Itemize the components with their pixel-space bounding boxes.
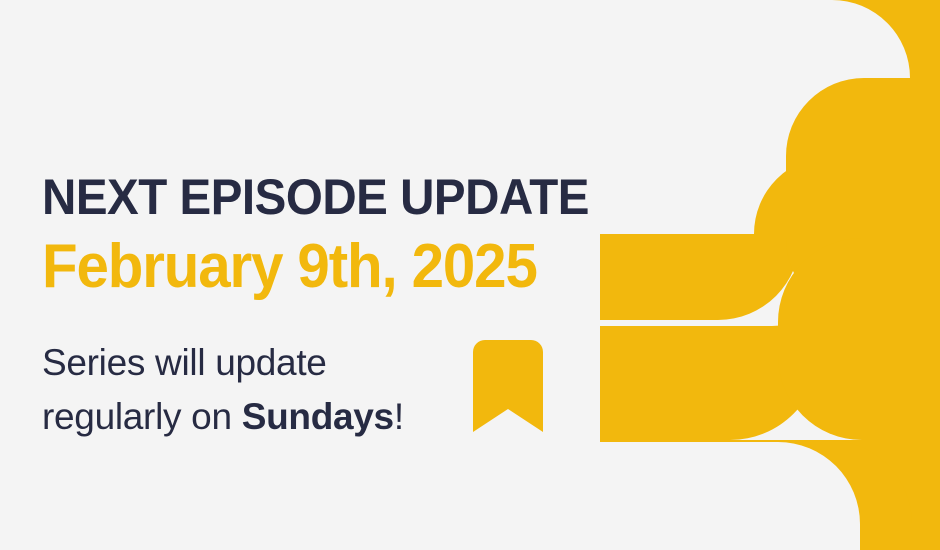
schedule-note: Series will update regularly on Sundays! <box>42 336 472 443</box>
next-episode-update-banner: NEXT EPISODE UPDATE February 9th, 2025 S… <box>0 0 940 550</box>
page-title: NEXT EPISODE UPDATE <box>42 172 589 222</box>
schedule-note-line2-suffix: ! <box>394 396 404 437</box>
banner-content: NEXT EPISODE UPDATE February 9th, 2025 S… <box>42 0 742 550</box>
episode-date: February 9th, 2025 <box>42 236 537 298</box>
schedule-note-line2-prefix: regularly on <box>42 396 242 437</box>
schedule-note-emphasis: Sundays <box>242 396 394 437</box>
schedule-note-line1: Series will update <box>42 342 327 383</box>
bookmark-icon <box>473 340 543 432</box>
